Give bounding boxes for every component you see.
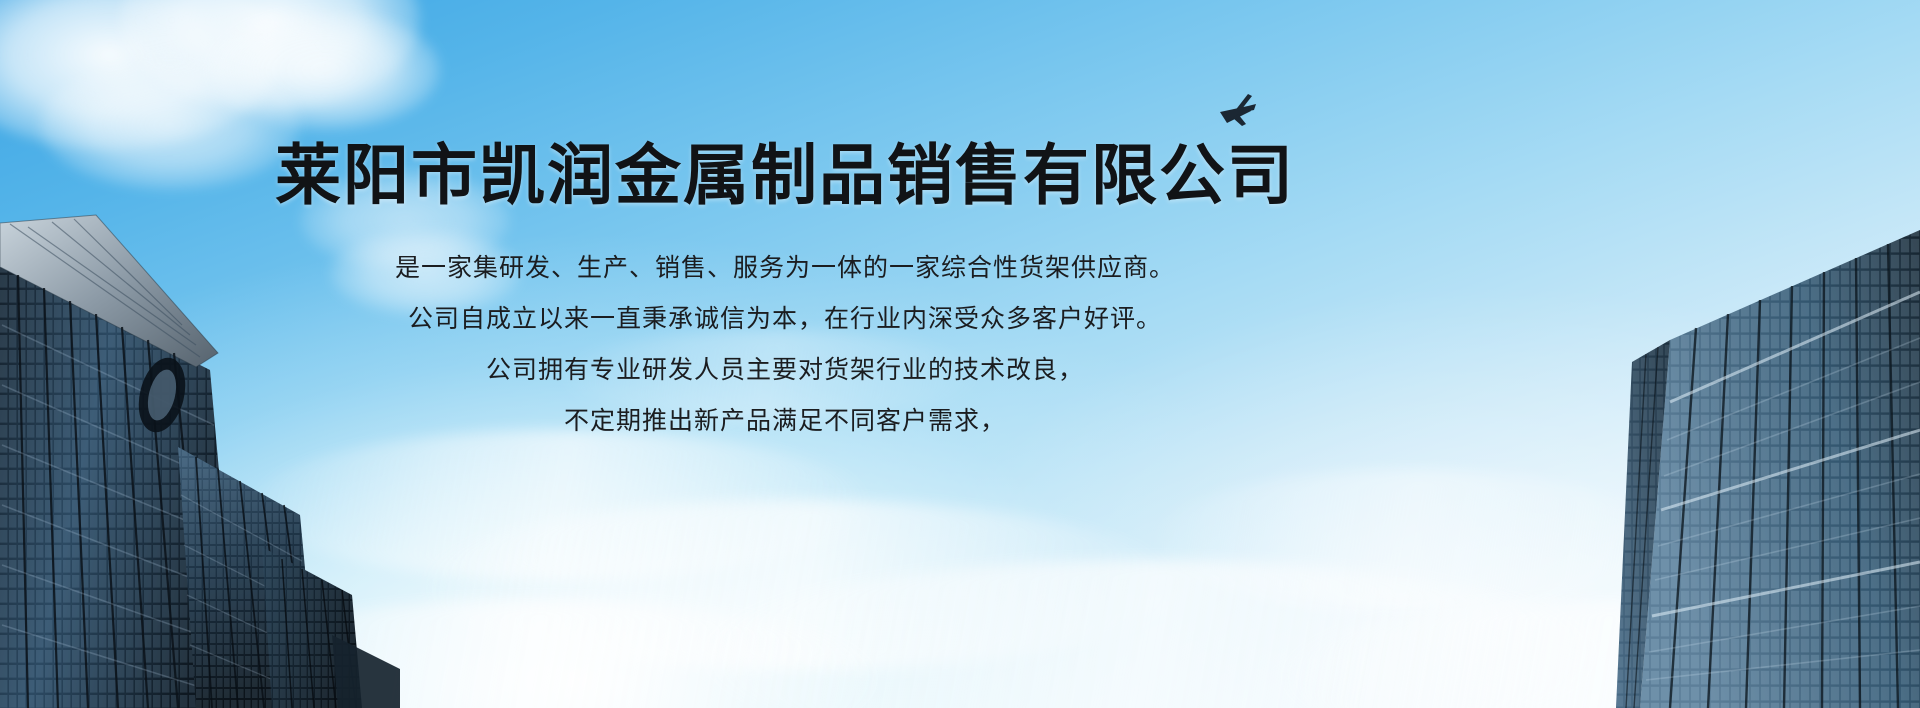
tagline-line-2: 公司自成立以来一直秉承诚信为本，在行业内深受众多客户好评。 (0, 303, 1570, 335)
banner-content: 莱阳市凯润金属制品销售有限公司 是一家集研发、生产、销售、服务为一体的一家综合性… (0, 0, 1920, 708)
tagline-line-3: 公司拥有专业研发人员主要对货架行业的技术改良， (0, 354, 1570, 386)
tagline-line-4: 不定期推出新产品满足不同客户需求， (0, 405, 1570, 437)
promo-banner: 莱阳市凯润金属制品销售有限公司 是一家集研发、生产、销售、服务为一体的一家综合性… (0, 0, 1920, 708)
tagline-line-1: 是一家集研发、生产、销售、服务为一体的一家综合性货架供应商。 (0, 252, 1570, 284)
page-title: 莱阳市凯润金属制品销售有限公司 (0, 137, 1570, 213)
